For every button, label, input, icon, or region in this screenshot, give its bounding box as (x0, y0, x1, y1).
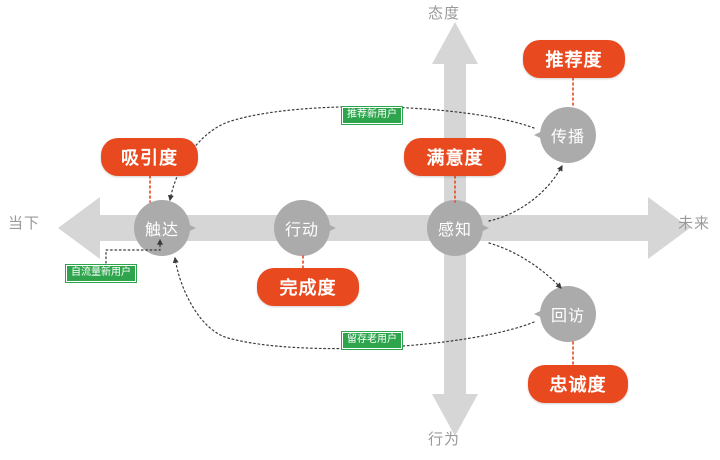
axis-label-top: 态度 (428, 2, 460, 23)
node-shape-touch (134, 200, 196, 256)
metric-chip-recommend[interactable]: 推荐度 (523, 40, 625, 78)
flow-tag-retain-old-user[interactable]: 留存老用户 (342, 332, 402, 349)
flow-perceive-to-spread (489, 166, 562, 221)
metric-chip-satisfy[interactable]: 满意度 (404, 138, 506, 176)
node-shape-action (274, 200, 336, 256)
flow-tag-self-traffic-new-user[interactable]: 自流量新用户 (66, 265, 136, 282)
axis-label-bottom: 行为 (428, 428, 460, 449)
diagram-canvas: 态度 行为 当下 未来 触达 行动 感知 传播 回访 吸引度 满意度 推荐度 完… (0, 0, 720, 460)
axis-label-left: 当下 (8, 212, 40, 233)
flow-perceive-to-revisit (489, 243, 561, 288)
node-shape-revisit (534, 286, 596, 342)
node-shape-spread (534, 107, 596, 163)
flow-tag-recommend-new-user[interactable]: 推荐新用户 (342, 107, 402, 124)
metric-chip-attract[interactable]: 吸引度 (101, 138, 198, 176)
metric-chip-loyalty[interactable]: 忠诚度 (528, 365, 628, 403)
node-shape-perceive (427, 200, 489, 256)
metric-chip-complete[interactable]: 完成度 (257, 268, 359, 306)
axis-label-right: 未来 (678, 212, 710, 233)
